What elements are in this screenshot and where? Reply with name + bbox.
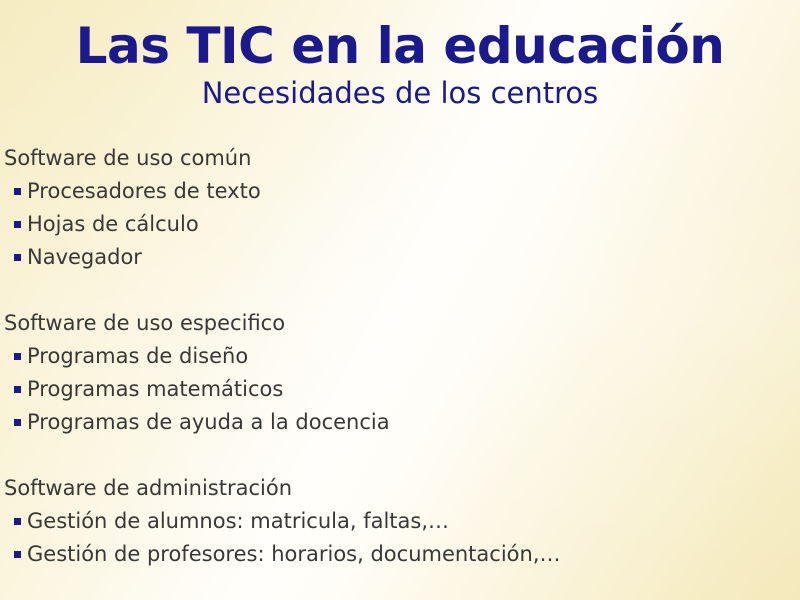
- slide-title: Las TIC en la educación: [0, 18, 800, 74]
- square-bullet-icon: [14, 518, 21, 525]
- square-bullet-icon: [14, 353, 21, 360]
- section-heading: Software de administración: [4, 472, 794, 505]
- list-item-label: Procesadores de texto: [27, 179, 261, 203]
- list-item-label: Hojas de cálculo: [27, 212, 199, 236]
- square-bullet-icon: [14, 551, 21, 558]
- list-item-label: Gestión de alumnos: matricula, faltas,…: [27, 509, 449, 533]
- slide-body: Software de uso común Procesadores de te…: [4, 142, 794, 571]
- list-item: Gestión de alumnos: matricula, faltas,…: [4, 505, 794, 538]
- slide-content: Las TIC en la educación Necesidades de l…: [0, 0, 800, 600]
- list-item-label: Navegador: [27, 245, 142, 269]
- list-item: Hojas de cálculo: [4, 208, 794, 241]
- section-software-uso-comun: Software de uso común Procesadores de te…: [4, 142, 794, 274]
- bullet-list: Programas de diseño Programas matemático…: [4, 340, 794, 439]
- square-bullet-icon: [14, 254, 21, 261]
- bullet-list: Procesadores de texto Hojas de cálculo N…: [4, 175, 794, 274]
- list-item: Programas de diseño: [4, 340, 794, 373]
- list-item: Programas matemáticos: [4, 373, 794, 406]
- list-item: Programas de ayuda a la docencia: [4, 406, 794, 439]
- list-item: Gestión de profesores: horarios, documen…: [4, 538, 794, 571]
- square-bullet-icon: [14, 419, 21, 426]
- list-item-label: Programas de diseño: [27, 344, 248, 368]
- list-item-label: Programas matemáticos: [27, 377, 283, 401]
- list-item-label: Gestión de profesores: horarios, documen…: [27, 542, 561, 566]
- section-software-uso-especifico: Software de uso especifico Programas de …: [4, 307, 794, 439]
- bullet-list: Gestión de alumnos: matricula, faltas,… …: [4, 505, 794, 571]
- presentation-slide: Las TIC en la educación Necesidades de l…: [0, 0, 800, 600]
- list-item-label: Programas de ayuda a la docencia: [27, 410, 390, 434]
- section-heading: Software de uso común: [4, 142, 794, 175]
- square-bullet-icon: [14, 386, 21, 393]
- square-bullet-icon: [14, 188, 21, 195]
- list-item: Procesadores de texto: [4, 175, 794, 208]
- section-software-administracion: Software de administración Gestión de al…: [4, 472, 794, 571]
- square-bullet-icon: [14, 221, 21, 228]
- list-item: Navegador: [4, 241, 794, 274]
- section-heading: Software de uso especifico: [4, 307, 794, 340]
- slide-subtitle: Necesidades de los centros: [0, 76, 800, 110]
